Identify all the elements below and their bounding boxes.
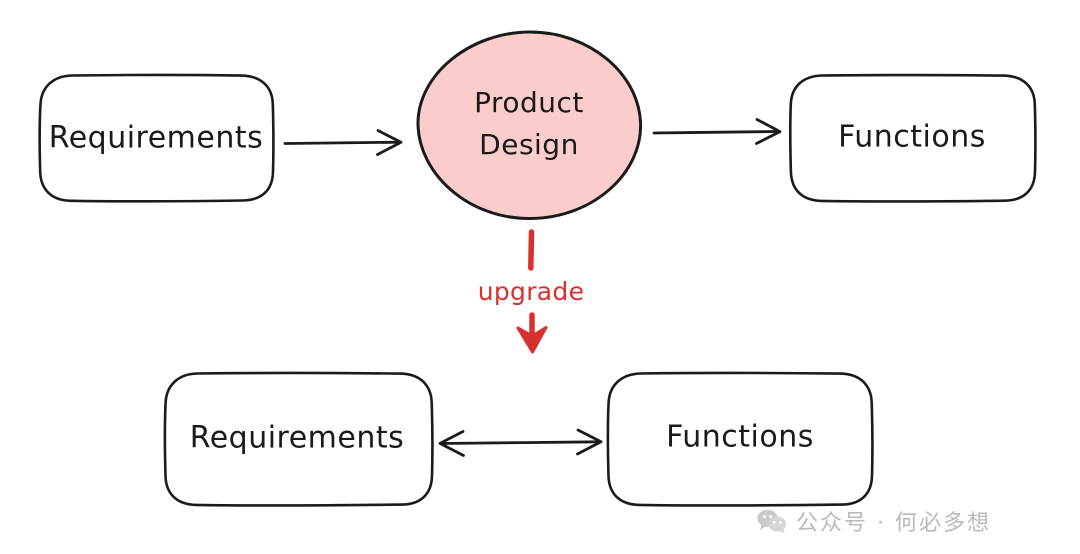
watermark: 公众号 · 何必多想 xyxy=(757,505,991,537)
connector-design-to-functions-line xyxy=(654,132,778,134)
node-requirements-top[interactable]: Requirements xyxy=(40,75,274,201)
connector-requirements-to-design-line xyxy=(285,142,400,143)
connector-upgrade-label: upgrade xyxy=(478,277,585,306)
node-functions-bottom[interactable]: Functions xyxy=(608,373,872,505)
connector-design-to-functions xyxy=(654,120,780,144)
node-product-design-label-line2: Design xyxy=(479,128,579,161)
diagram-canvas: Requirements Product Design Functions up… xyxy=(0,0,1080,554)
node-product-design-outline xyxy=(418,32,641,219)
connector-requirements-functions-bidirectional xyxy=(440,430,601,456)
node-functions-top-label: Functions xyxy=(838,120,986,155)
watermark-text: 公众号 · 何必多想 xyxy=(796,505,991,537)
connector-upgrade: upgrade xyxy=(478,232,585,352)
connector-bidirectional-line xyxy=(441,442,600,444)
node-requirements-bottom[interactable]: Requirements xyxy=(165,373,432,505)
node-functions-bottom-label: Functions xyxy=(666,420,814,455)
node-requirements-bottom-label: Requirements xyxy=(190,421,405,456)
node-requirements-top-label: Requirements xyxy=(49,121,264,156)
wechat-icon xyxy=(757,508,787,534)
node-product-design-label-line1: Product xyxy=(474,86,584,119)
node-product-design[interactable]: Product Design xyxy=(418,32,641,219)
connector-requirements-to-design xyxy=(285,131,401,155)
node-functions-top[interactable]: Functions xyxy=(790,75,1035,201)
connector-upgrade-line-upper xyxy=(531,232,532,268)
